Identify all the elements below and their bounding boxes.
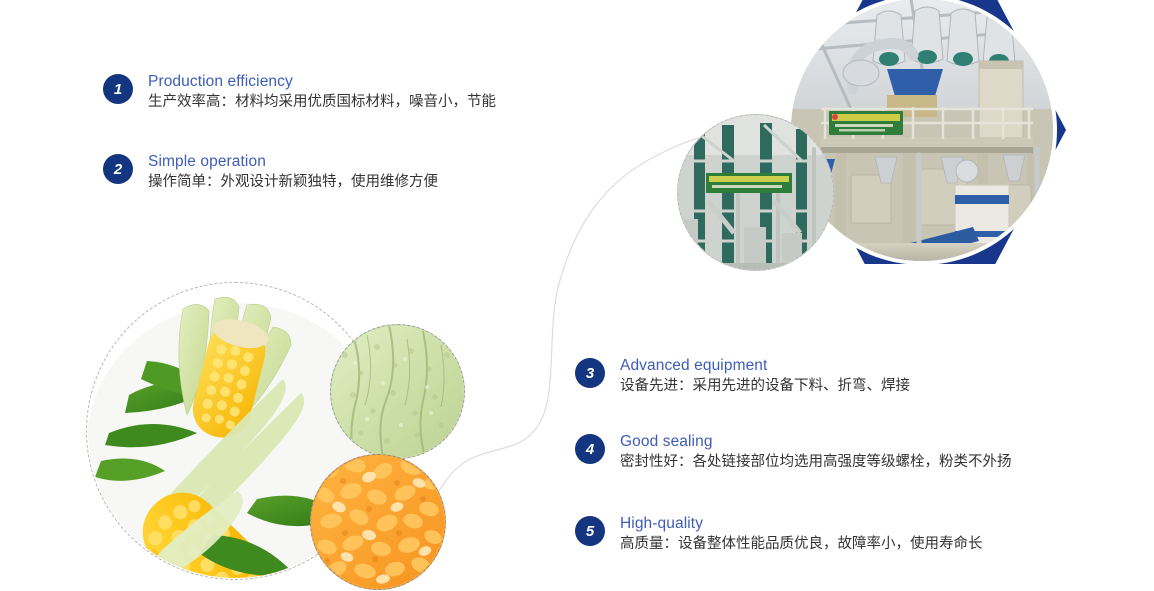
infographic-canvas: 1 Production efficiency 生产效率高：材料均采用优质国标材… xyxy=(0,0,1154,591)
feature-badge-3: 3 xyxy=(575,358,605,388)
feature-description-1: 生产效率高：材料均采用优质国标材料，噪音小，节能 xyxy=(148,91,496,113)
feature-heading-5: High-quality xyxy=(620,514,983,533)
corn-grits-photo xyxy=(310,454,446,590)
feature-text-2: Simple operation 操作简单：外观设计新颖独特，使用维修方便 xyxy=(148,152,438,193)
feature-description-3: 设备先进：采用先进的设备下料、折弯、焊接 xyxy=(620,375,910,397)
feature-badge-4: 4 xyxy=(575,434,605,464)
feature-item-5: 5 High-quality 高质量：设备整体性能品质优良，故障率小，使用寿命长 xyxy=(575,514,983,555)
machine-photo-cluster xyxy=(672,0,1072,276)
feature-heading-4: Good sealing xyxy=(620,432,1012,451)
feature-text-1: Production efficiency 生产效率高：材料均采用优质国标材料，… xyxy=(148,72,496,113)
corn-photo-cluster xyxy=(86,282,486,591)
feature-heading-2: Simple operation xyxy=(148,152,438,171)
feature-heading-3: Advanced equipment xyxy=(620,356,910,375)
machine-photo-small xyxy=(677,114,834,271)
feature-description-4: 密封性好：各处链接部位均选用高强度等级螺栓，粉类不外扬 xyxy=(620,451,1012,473)
feature-item-1: 1 Production efficiency 生产效率高：材料均采用优质国标材… xyxy=(103,72,496,113)
feature-badge-2: 2 xyxy=(103,154,133,184)
feature-description-5: 高质量：设备整体性能品质优良，故障率小，使用寿命长 xyxy=(620,533,983,555)
feature-badge-5: 5 xyxy=(575,516,605,546)
feature-heading-1: Production efficiency xyxy=(148,72,496,91)
feature-item-3: 3 Advanced equipment 设备先进：采用先进的设备下料、折弯、焊… xyxy=(575,356,910,397)
feature-text-5: High-quality 高质量：设备整体性能品质优良，故障率小，使用寿命长 xyxy=(620,514,983,555)
machine-photo xyxy=(791,0,1053,261)
feature-description-2: 操作简单：外观设计新颖独特，使用维修方便 xyxy=(148,171,438,193)
feature-badge-1: 1 xyxy=(103,74,133,104)
feature-text-4: Good sealing 密封性好：各处链接部位均选用高强度等级螺栓，粉类不外扬 xyxy=(620,432,1012,473)
feature-item-4: 4 Good sealing 密封性好：各处链接部位均选用高强度等级螺栓，粉类不… xyxy=(575,432,1012,473)
feature-item-2: 2 Simple operation 操作简单：外观设计新颖独特，使用维修方便 xyxy=(103,152,438,193)
corn-paste-photo xyxy=(330,324,465,459)
feature-text-3: Advanced equipment 设备先进：采用先进的设备下料、折弯、焊接 xyxy=(620,356,910,397)
